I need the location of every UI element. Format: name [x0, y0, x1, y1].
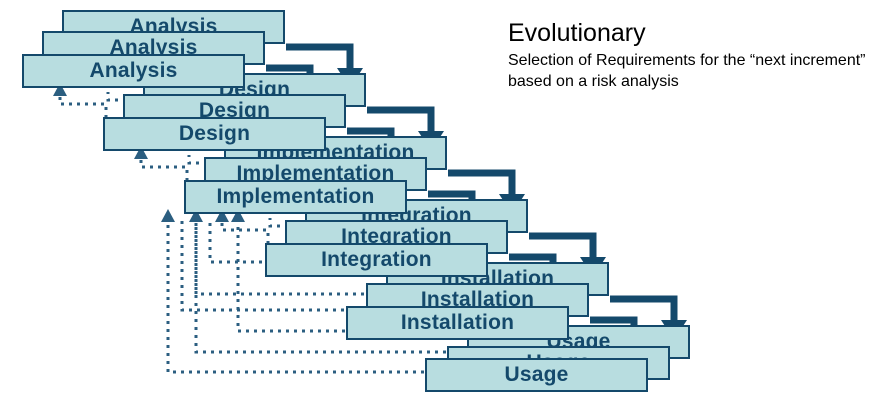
feedback-integration-front [222, 219, 268, 244]
stage-box-integration-front[interactable]: Integration [265, 243, 488, 277]
legend-description: Selection of Requirements for the “next … [508, 50, 876, 92]
stage-box-analysis-front[interactable]: Analysis [22, 54, 245, 88]
stage-box-design-front[interactable]: Design [103, 117, 326, 151]
stage-box-usage-front[interactable]: Usage [425, 358, 648, 392]
feedback-design-analysis-front [60, 93, 106, 118]
legend-title: Evolutionary [508, 18, 876, 48]
stage-box-implementation-front[interactable]: Implementation [184, 180, 407, 214]
legend-block: Evolutionary Selection of Requirements f… [508, 18, 876, 92]
feedback-arrowhead-impl-1 [161, 209, 175, 222]
stage-box-installation-front[interactable]: Installation [346, 306, 569, 340]
diagram-canvas: AnalysisAnalysisAnalysisDesignDesignDesi… [0, 0, 881, 407]
feedback-impl-design-front [141, 156, 187, 181]
